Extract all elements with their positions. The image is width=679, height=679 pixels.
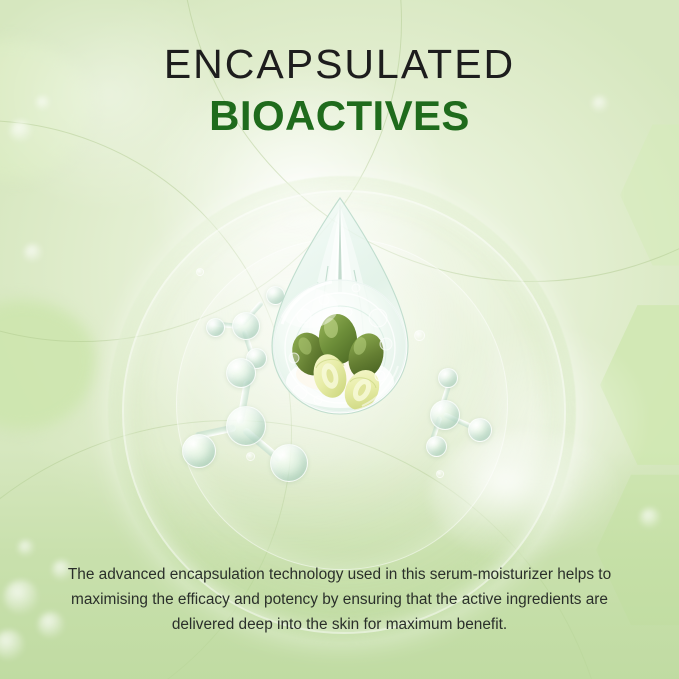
droplet-shape	[258, 196, 422, 428]
infographic-canvas: ENCAPSULATED BIOACTIVES	[0, 0, 679, 679]
molecule-atom-satellite	[226, 358, 256, 388]
bubble-near-droplet-4	[196, 268, 204, 276]
description-paragraph: The advanced encapsulation technology us…	[62, 563, 617, 638]
molecule-atom-satellite	[270, 444, 308, 482]
molecule-atom-satellite	[468, 418, 492, 442]
molecule-atom-satellite	[426, 436, 447, 457]
bubble-near-droplet-1	[414, 330, 425, 341]
molecule-atom-satellite	[182, 434, 216, 468]
molecule-atom-center	[430, 400, 460, 430]
soft-bubble-bl-2	[38, 612, 64, 638]
bubble-near-droplet-2	[246, 452, 255, 461]
soft-bubble-r-1	[592, 96, 608, 112]
molecule-atom-center	[232, 312, 260, 340]
molecule-atom-satellite	[438, 368, 458, 388]
soft-bubble-l-3	[24, 244, 42, 262]
molecule-atom-satellite	[206, 318, 225, 337]
serum-droplet	[258, 196, 422, 428]
soft-bubble-bl-5	[18, 540, 34, 556]
soft-bubble-l-1	[10, 120, 32, 142]
bubble-near-droplet-3	[436, 470, 444, 478]
soft-bubble-l-2	[36, 96, 50, 110]
soft-bubble-bl-1	[4, 580, 38, 614]
soft-bubble-r-2	[640, 508, 660, 528]
